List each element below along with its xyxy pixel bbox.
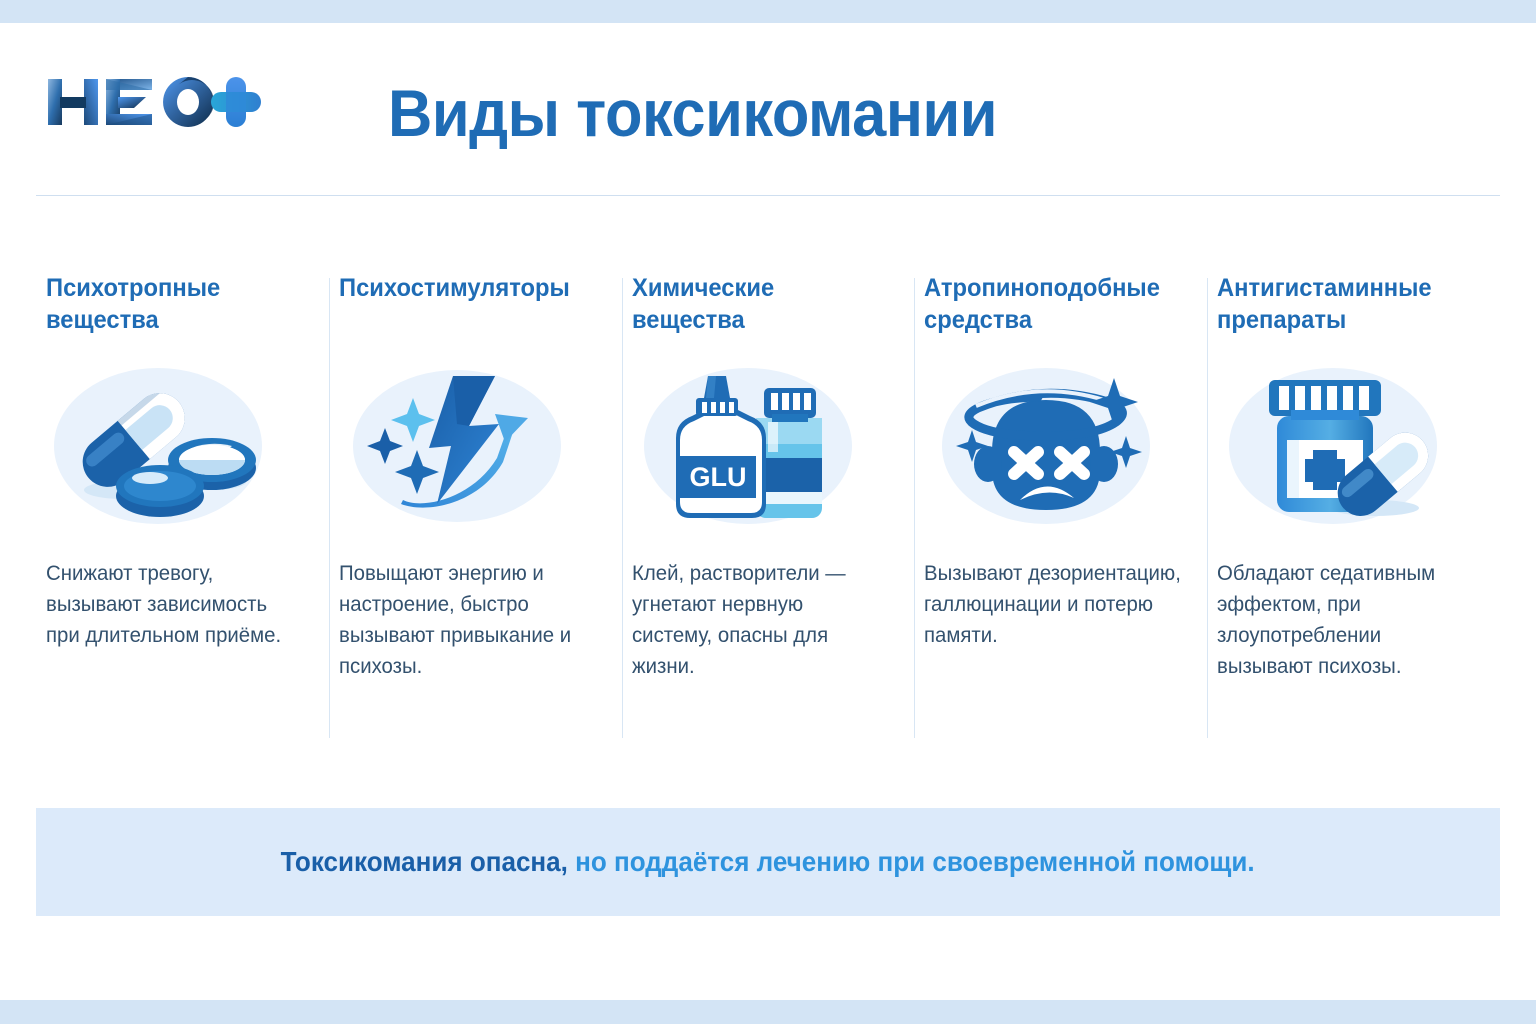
top-accent-band	[0, 0, 1536, 23]
category-title: Психотропные вещества	[46, 272, 298, 342]
category-description: Обладают седативным эффектом, при злоупо…	[1217, 558, 1474, 682]
bottom-banner: Токсикомания опасна, но поддаётся лечени…	[36, 808, 1500, 916]
icon-container	[924, 356, 1189, 536]
category-title: Химические вещества	[632, 272, 884, 342]
category-columns: Психотропные вещества	[36, 272, 1500, 742]
header-divider	[36, 195, 1500, 196]
glue-solvent-bottles-icon: GLU	[638, 360, 862, 532]
icon-container: GLU	[632, 356, 897, 536]
infographic-page: Виды токсикомании Психотропные вещества	[0, 0, 1536, 1024]
banner-strong-text: Токсикомания опасна,	[281, 846, 568, 877]
icon-container	[339, 356, 604, 536]
category-column-antihistamines: Антигистаминные препараты	[1207, 272, 1500, 742]
category-title: Антигистаминные препараты	[1217, 272, 1469, 342]
category-title: Психостимуляторы	[339, 272, 591, 342]
category-description: Вызывают дезориентацию, галлюцинации и п…	[924, 558, 1181, 651]
category-title: Атропиноподобные средства	[924, 272, 1176, 342]
category-column-psychotropic: Психотропные вещества	[36, 272, 329, 742]
neo-plus-logo[interactable]	[48, 71, 286, 133]
category-description: Снижают тревогу, вызывают зависимость пр…	[46, 558, 303, 651]
glue-label: GLU	[689, 462, 746, 492]
category-column-stimulants: Психостимуляторы	[329, 272, 622, 742]
category-description: Клей, растворители — угнетают нервную си…	[632, 558, 889, 682]
category-description: Повыщают энергию и настроение, быстро вы…	[339, 558, 596, 682]
page-title: Виды токсикомании	[388, 75, 997, 151]
header: Виды токсикомании	[0, 23, 1536, 191]
lightning-bolt-rising-arrow-icon	[345, 362, 569, 530]
dizzy-head-x-eyes-icon	[938, 360, 1162, 532]
category-column-atropine: Атропиноподобные средства	[914, 272, 1207, 742]
icon-container	[1217, 356, 1482, 536]
icon-container	[46, 356, 311, 536]
banner-rest-text: но поддаётся лечению при своевременной п…	[568, 846, 1255, 877]
bottom-accent-band	[0, 1000, 1536, 1024]
banner-text: Токсикомания опасна, но поддаётся лечени…	[281, 845, 1255, 879]
pill-bottle-cross-capsule-icon	[1225, 360, 1449, 532]
pills-capsule-tablets-icon	[52, 362, 276, 530]
category-column-chemicals: Химические вещества	[622, 272, 915, 742]
